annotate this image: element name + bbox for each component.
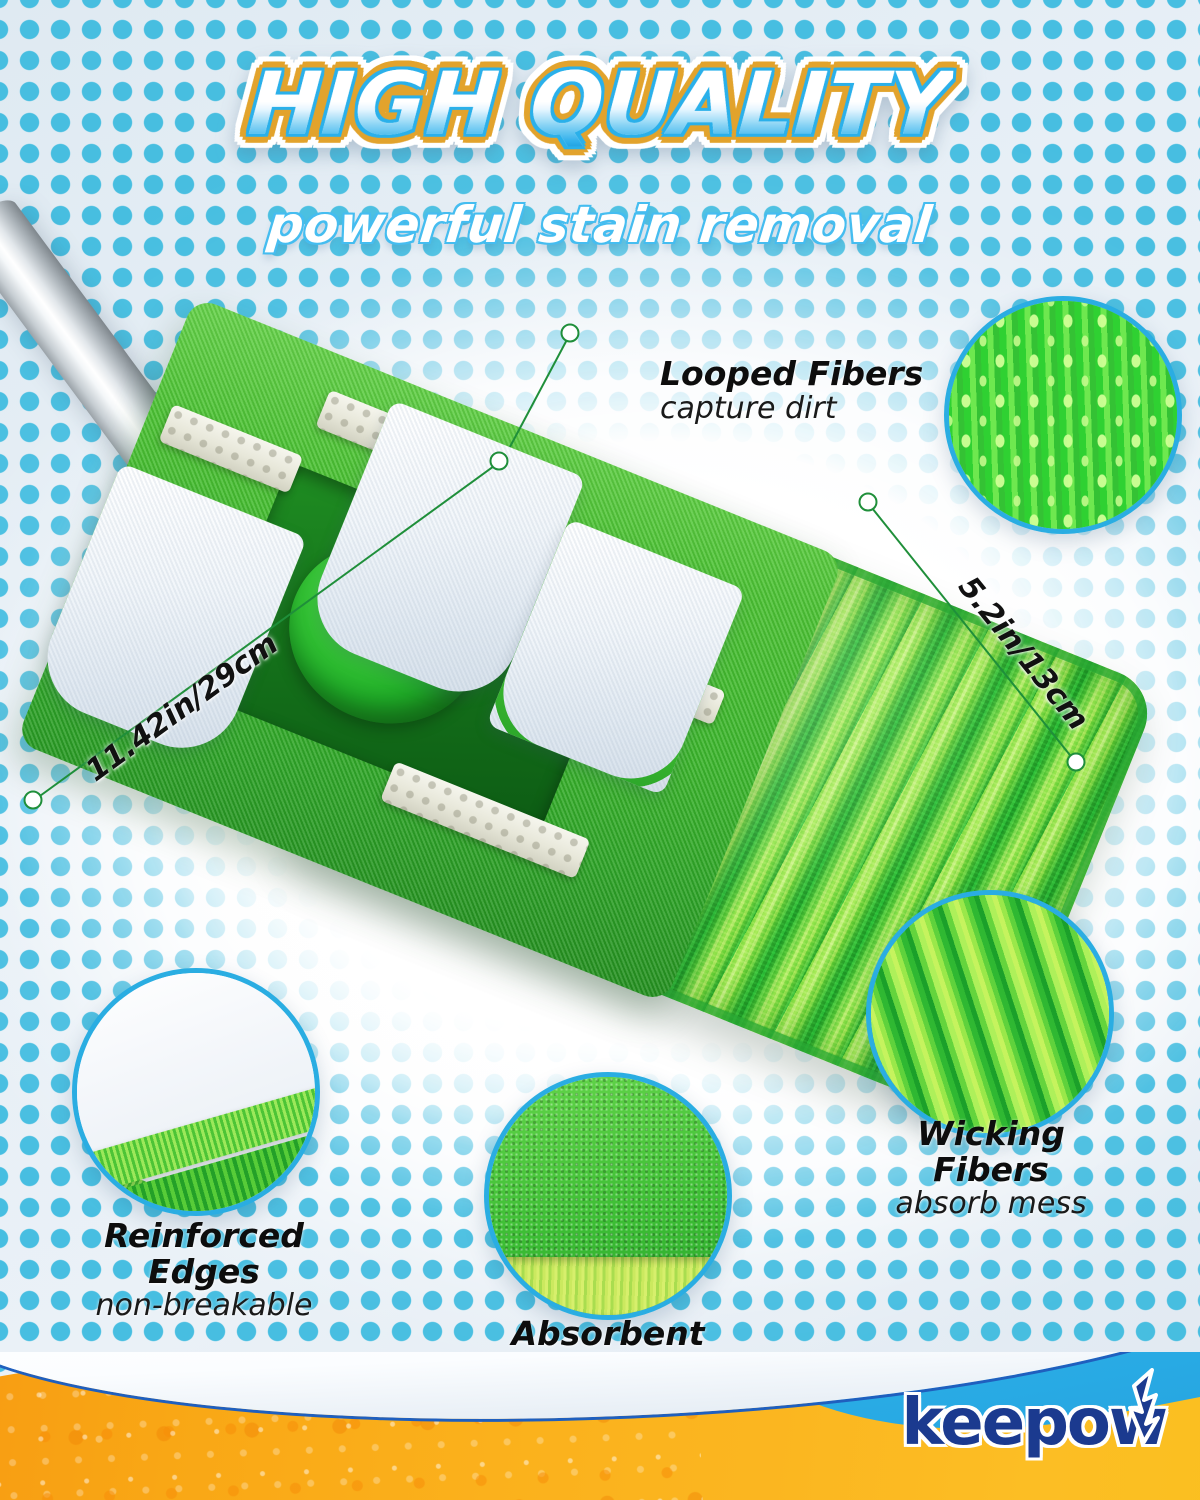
texture-looped-fibers (949, 301, 1177, 529)
callout-circle-reinforced-edges (72, 968, 320, 1216)
headline-container: HIGH QUALITY (0, 62, 1200, 148)
feature-title: Reinforced Edges (54, 1218, 354, 1289)
callout-circle-looped-fibers (944, 296, 1182, 534)
callout-circle-wicking-fibers (866, 890, 1114, 1138)
feature-subtitle: absorb mess (866, 1187, 1116, 1221)
feature-label-reinforced-edges: Reinforced Edges non-breakable (54, 1218, 354, 1323)
gripper-pad (158, 404, 303, 494)
texture-reinforced-edges (77, 973, 315, 1211)
product-infographic: HIGH QUALITY powerful stain removal (0, 0, 1200, 1500)
feature-label-looped-fibers: Looped Fibers capture dirt (660, 356, 923, 425)
brand-logo: keepow (901, 1386, 1166, 1460)
dimension-endpoint-dot (859, 493, 878, 512)
feature-title: Wicking Fibers (866, 1116, 1116, 1187)
headline-title: HIGH QUALITY (246, 62, 954, 148)
texture-absorbent-sponge (489, 1077, 727, 1315)
callout-circle-absorbent-sponge (484, 1072, 732, 1320)
feature-label-wicking-fibers: Wicking Fibers absorb mess (866, 1116, 1116, 1221)
dimension-endpoint-dot (490, 452, 509, 471)
texture-wicking-fibers (866, 890, 1114, 1138)
leader-endpoint-dot (561, 324, 580, 343)
dimension-endpoint-dot (1067, 753, 1086, 772)
footer-banner: keepow (0, 1352, 1200, 1500)
feature-subtitle: non-breakable (54, 1289, 354, 1323)
feature-subtitle: capture dirt (660, 392, 923, 426)
subheadline-container: powerful stain removal (0, 196, 1200, 254)
lightning-bolt-icon (1100, 1368, 1172, 1444)
headline-subtitle: powerful stain removal (265, 196, 935, 254)
feature-title: Looped Fibers (660, 356, 923, 392)
dimension-endpoint-dot (24, 791, 43, 810)
